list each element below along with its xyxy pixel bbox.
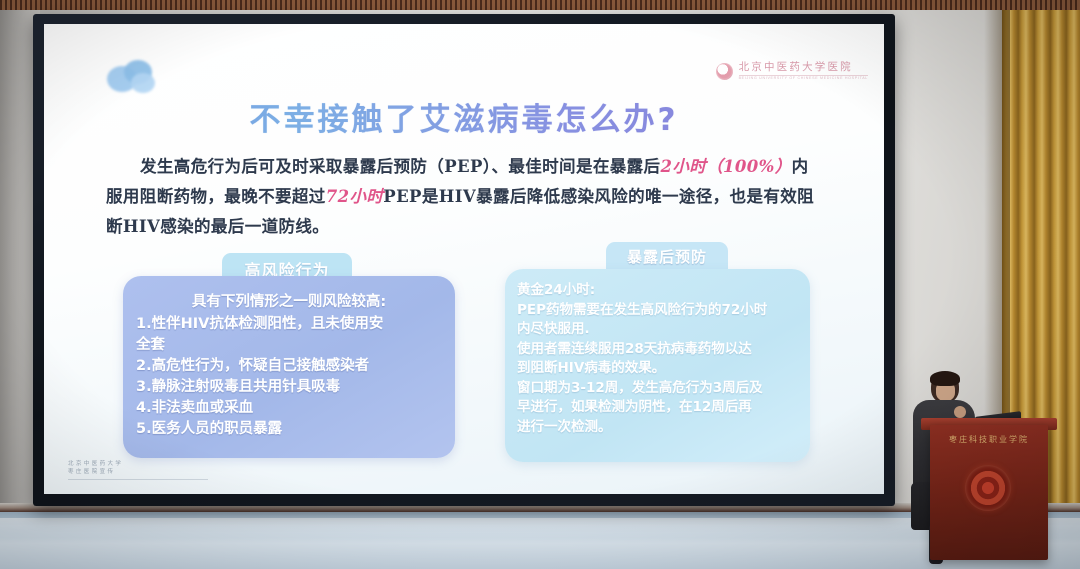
paragraph-highlight-72hours: 72小时 [326, 187, 384, 206]
speaker-hair [930, 371, 960, 386]
podium-institution-text: 枣庄科技职业学院 [930, 434, 1048, 445]
card-left-heading: 具有下列情形之一则风险较高: [136, 290, 442, 311]
hospital-logo-en: BEIJING UNIVERSITY OF CHINESE MEDICINE H… [739, 75, 868, 81]
card-left-item: 3.静脉注射吸毒且共用针具吸毒 [136, 377, 442, 398]
card-left-item: 1.性伴HIV抗体检测阳性，且未使用安 [136, 314, 442, 335]
slide-paragraph: 发生高危行为后可及时采取暴露后预防（PEP）、最佳时间是在暴露后2小时（100%… [106, 152, 824, 242]
card-right-line: 早进行，如果检测为阴性，在12周后再 [517, 398, 798, 418]
lecture-hall-scene: 北京中医药大学医院 BEIJING UNIVERSITY OF CHINESE … [0, 0, 1080, 569]
card-right-line: 内尽快服用. [517, 320, 798, 340]
slide-footer-line2: 枣庄医院宣传 [68, 468, 218, 476]
hospital-logo-text: 北京中医药大学医院 BEIJING UNIVERSITY OF CHINESE … [739, 62, 868, 81]
slide-title: 不幸接触了艾滋病毒怎么办? [44, 94, 884, 139]
card-right-line: 到阻断HIV病毒的效果。 [517, 359, 798, 379]
card-right-line: 窗口期为3-12周，发生高危行为3周后及 [517, 379, 798, 399]
slide-footer-line1: 北京中医药大学 [68, 460, 218, 468]
speaker-hand [954, 406, 966, 418]
slide-footer-rule [68, 479, 208, 480]
card-right-line: 使用者需连续服用28天抗病毒药物以达 [517, 340, 798, 360]
card-left-item: 5.医务人员的职员暴露 [136, 419, 442, 440]
card-right-line: 黄金24小时: [517, 281, 798, 301]
card-right-line: PEP药物需要在发生高风险行为的72小时 [517, 301, 798, 321]
tab-pep-line1: 暴露后预防 [606, 247, 728, 267]
hospital-logo-cn: 北京中医药大学医院 [739, 62, 868, 73]
projection-screen: 北京中医药大学医院 BEIJING UNIVERSITY OF CHINESE … [44, 24, 884, 494]
podium-emblem-icon [965, 465, 1011, 511]
card-high-risk-list: 具有下列情形之一则风险较高: 1.性伴HIV抗体检测阳性，且未使用安 全套 2.… [123, 276, 455, 458]
hospital-logo-icon [716, 63, 733, 80]
cloud-decoration-icon [107, 60, 159, 94]
hospital-logo: 北京中医药大学医院 BEIJING UNIVERSITY OF CHINESE … [716, 62, 868, 81]
card-pep-details: 黄金24小时: PEP药物需要在发生高风险行为的72小时 内尽快服用. 使用者需… [505, 269, 810, 462]
card-left-item: 2.高危性行为，怀疑自己接触感染者 [136, 356, 442, 377]
card-right-line: 进行一次检测。 [517, 418, 798, 438]
card-left-item: 4.非法卖血或采血 [136, 398, 442, 419]
paragraph-highlight-100pct: （100%） [706, 157, 792, 176]
slide-footer: 北京中医药大学 枣庄医院宣传 [68, 460, 218, 480]
paragraph-seg-1: 发生高危行为后可及时采取暴露后预防（PEP）、最佳时间是在暴露后 [140, 157, 660, 176]
paragraph-highlight-2hours: 2小时 [660, 157, 706, 176]
card-left-item: 全套 [136, 335, 442, 356]
